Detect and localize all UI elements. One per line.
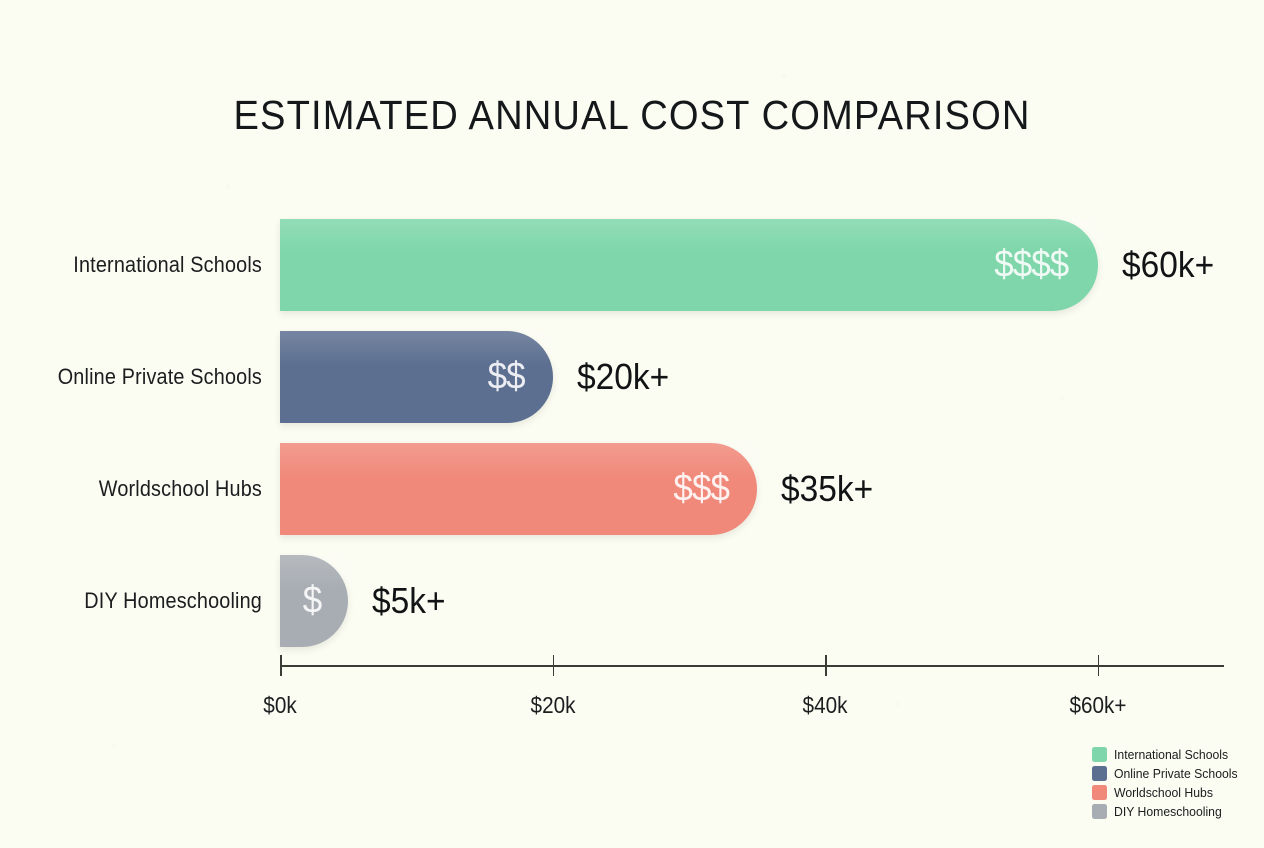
legend-item[interactable]: Worldschool Hubs bbox=[1092, 784, 1246, 800]
legend-swatch bbox=[1092, 804, 1107, 819]
bar-tier-marker: $$ bbox=[488, 356, 525, 399]
bar-tier-marker: $$$ bbox=[673, 468, 729, 511]
axis-tick bbox=[1098, 655, 1100, 676]
axis-tick-label: $60k+ bbox=[1069, 692, 1126, 719]
bar[interactable]: $$$$ bbox=[280, 219, 1098, 311]
bar-value-label: $35k+ bbox=[781, 468, 873, 510]
bar[interactable]: $$ bbox=[280, 331, 553, 423]
category-label: DIY Homeschooling bbox=[26, 588, 262, 614]
category-label: Worldschool Hubs bbox=[26, 476, 262, 502]
bar-tier-marker: $$$$ bbox=[994, 244, 1068, 287]
axis-tick bbox=[825, 655, 827, 676]
axis-tick-label: $20k bbox=[530, 692, 575, 719]
bar-row: DIY Homeschooling$$5k+ bbox=[0, 555, 1264, 647]
bar-row: Online Private Schools$$$20k+ bbox=[0, 331, 1264, 423]
bar-row: Worldschool Hubs$$$$35k+ bbox=[0, 443, 1264, 535]
category-label: International Schools bbox=[26, 252, 262, 278]
bar-row: International Schools$$$$$60k+ bbox=[0, 219, 1264, 311]
legend-label: DIY Homeschooling bbox=[1114, 804, 1222, 819]
legend-swatch bbox=[1092, 747, 1107, 762]
bar-tier-marker: $ bbox=[303, 580, 322, 623]
legend-label: International Schools bbox=[1114, 747, 1228, 762]
bar[interactable]: $$$ bbox=[280, 443, 757, 535]
bar[interactable]: $ bbox=[280, 555, 348, 647]
category-label: Online Private Schools bbox=[26, 364, 262, 390]
plot-area: International Schools$$$$$60k+Online Pri… bbox=[0, 0, 1264, 848]
legend-swatch bbox=[1092, 766, 1107, 781]
axis-tick-label: $40k bbox=[803, 692, 848, 719]
legend-item[interactable]: Online Private Schools bbox=[1092, 765, 1246, 781]
legend-item[interactable]: DIY Homeschooling bbox=[1092, 803, 1246, 819]
x-axis-line bbox=[280, 665, 1224, 667]
bar-value-label: $5k+ bbox=[372, 580, 446, 622]
axis-tick bbox=[280, 655, 282, 676]
axis-tick bbox=[553, 655, 555, 676]
chart-legend: International SchoolsOnline Private Scho… bbox=[1092, 746, 1246, 819]
cost-comparison-chart: ESTIMATED ANNUAL COST COMPARISON Interna… bbox=[0, 0, 1264, 848]
legend-label: Online Private Schools bbox=[1114, 766, 1238, 781]
legend-item[interactable]: International Schools bbox=[1092, 746, 1246, 762]
legend-label: Worldschool Hubs bbox=[1114, 785, 1213, 800]
axis-tick-label: $0k bbox=[263, 692, 296, 719]
legend-swatch bbox=[1092, 785, 1107, 800]
bar-value-label: $60k+ bbox=[1122, 244, 1214, 286]
bar-value-label: $20k+ bbox=[577, 356, 669, 398]
